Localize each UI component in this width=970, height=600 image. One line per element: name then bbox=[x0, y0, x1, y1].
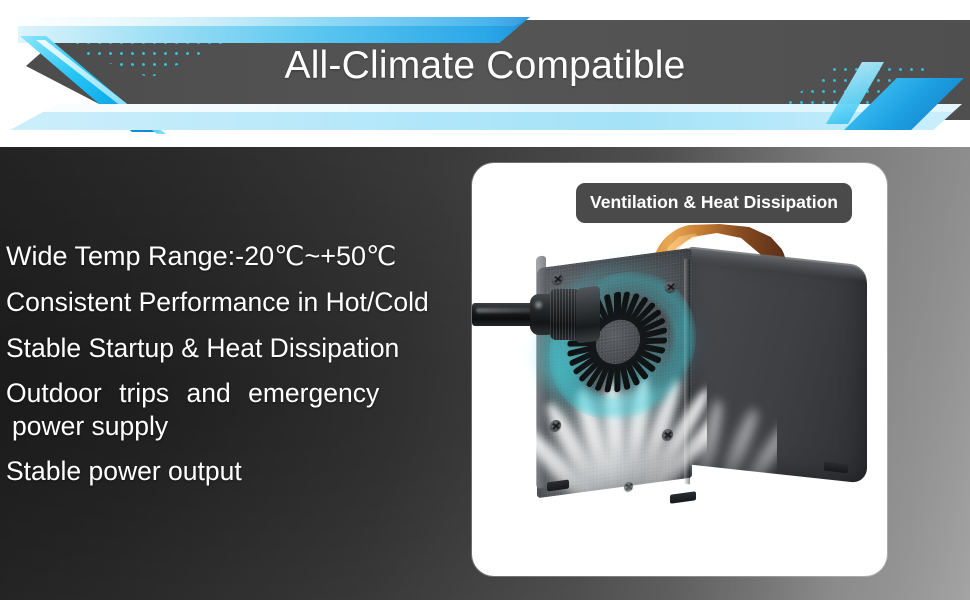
feature-item-temp-range: Wide Temp Range:-20℃~+50℃ bbox=[6, 243, 476, 270]
cable-gland-highlight bbox=[534, 299, 543, 311]
cable-gland-hex-body bbox=[576, 285, 600, 343]
banner-top-band-shine bbox=[18, 17, 530, 26]
feature-item-consistent-performance: Consistent Performance in Hot/Cold bbox=[6, 289, 476, 316]
main-content-section: Wide Temp Range:-20℃~+50℃ Consistent Per… bbox=[0, 147, 970, 600]
feature-item-power-supply: power supply bbox=[6, 413, 476, 440]
feature-list: Wide Temp Range:-20℃~+50℃ Consistent Per… bbox=[6, 243, 476, 504]
screw-icon bbox=[624, 481, 633, 491]
feature-item-stable-output: Stable power output bbox=[6, 458, 476, 485]
product-image bbox=[472, 163, 887, 576]
header-banner: All-Climate Compatible bbox=[0, 0, 970, 147]
product-feature-banner: All-Climate Compatible Wide Temp Range:-… bbox=[0, 0, 970, 600]
feature-item-outdoor-trips: Outdoor trips and emergency bbox=[6, 380, 476, 407]
product-photo-panel: Ventilation & Heat Dissipation bbox=[472, 163, 887, 576]
ventilation-badge: Ventilation & Heat Dissipation bbox=[576, 183, 852, 223]
banner-bottom-band-shine bbox=[10, 104, 962, 112]
page-title: All-Climate Compatible bbox=[0, 44, 970, 88]
product-foot bbox=[670, 491, 696, 503]
product-side-panel bbox=[687, 248, 867, 484]
feature-item-stable-startup: Stable Startup & Heat Dissipation bbox=[6, 335, 476, 362]
